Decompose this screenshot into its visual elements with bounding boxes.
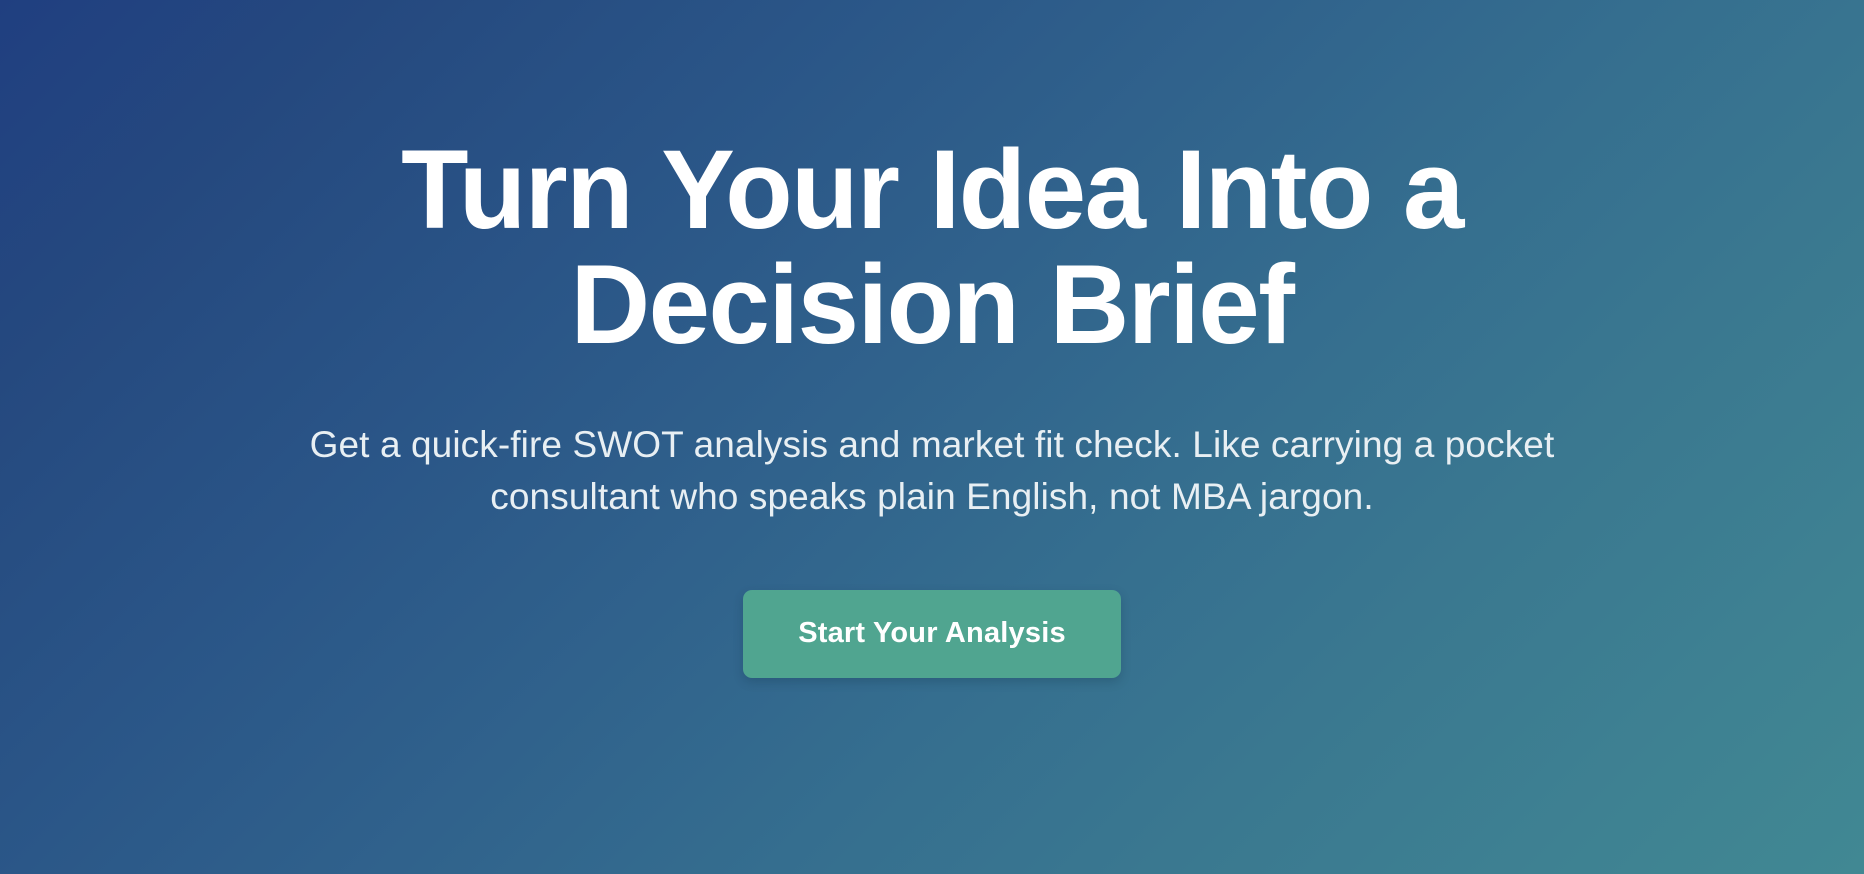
page-title: Turn Your Idea Into a Decision Brief (351, 132, 1513, 363)
hero-section: Turn Your Idea Into a Decision Brief Get… (0, 0, 1864, 874)
hero-content: Turn Your Idea Into a Decision Brief Get… (132, 132, 1732, 678)
cta-container: Start Your Analysis (743, 590, 1121, 678)
start-analysis-button[interactable]: Start Your Analysis (743, 590, 1121, 678)
hero-subtitle: Get a quick-fire SWOT analysis and marke… (262, 419, 1602, 524)
